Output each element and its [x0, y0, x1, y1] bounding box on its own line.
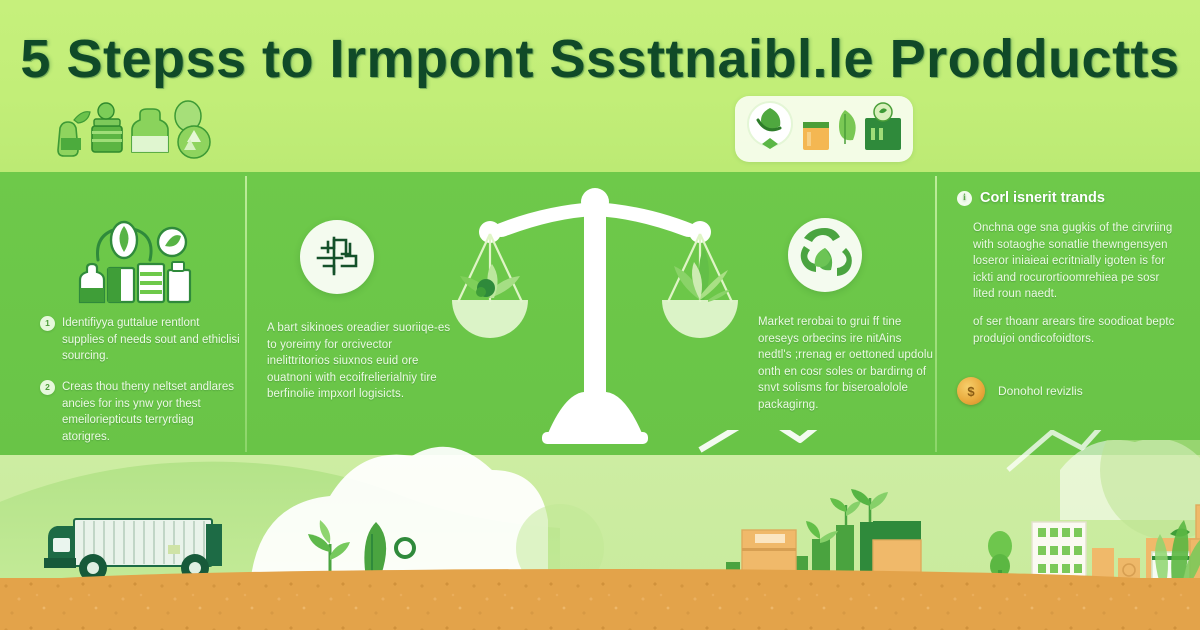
panel-heading: i Corl isnerit trands: [957, 190, 1105, 206]
bullet-item: 1 Identifiyya guttalue rentlont supplies…: [40, 315, 240, 365]
trends-body-2: of ser thoanr arears tire soodioat beptc…: [973, 314, 1178, 347]
gold-coin-icon: $: [957, 377, 985, 405]
pan-plant-left: [460, 264, 520, 298]
supply-chain-network-icon: [300, 220, 374, 294]
bullet-item: 2 Creas thou theny neltset andlares anci…: [40, 379, 240, 445]
landscape-band: [0, 455, 1200, 585]
column-body-text: Market rerobai to grui ff tine oreseys o…: [758, 314, 934, 413]
column-trends: i Corl isnerit trands Onchna oge sna gug…: [935, 172, 1200, 455]
column-body-text: A bart sikinoes oreadier suoriiqe-es to …: [267, 320, 455, 403]
trends-body-1: Onchna oge sna gugkis of the cirvriing w…: [973, 220, 1178, 303]
bullet-number: 2: [40, 380, 55, 395]
info-icon: i: [957, 191, 972, 206]
bullet-text: Creas thou theny neltset andlares ancies…: [62, 379, 240, 445]
soil-texture: [0, 578, 1200, 630]
page-title: 5 Stepss to Irmpont Sssttnaibl.le Proddu…: [0, 28, 1200, 90]
eco-products-shelf-icon: [72, 214, 192, 306]
soil-band: [0, 578, 1200, 630]
eco-certification-card: [735, 96, 913, 162]
recycling-leaf-icon: [788, 218, 862, 292]
column-logistics: A bart sikinoes oreadier suoriiqe-es to …: [245, 172, 450, 455]
balance-scale-with-plants: [450, 180, 740, 455]
column-balance: [450, 172, 740, 455]
financial-results-row: $ Donohol revizlis: [957, 377, 1083, 405]
pan-plant-right: [674, 248, 730, 302]
bullet-number: 1: [40, 316, 55, 331]
infographic-canvas: 5 Stepss to Irmpont Sssttnaibl.le Proddu…: [0, 0, 1200, 630]
bullet-text: Identifiyya guttalue rentlont supplies o…: [62, 315, 240, 365]
column-sourcing: 1 Identifiyya guttalue rentlont supplies…: [0, 172, 245, 455]
financial-results-label: Donohol revizlis: [998, 384, 1083, 398]
eco-product-bottles-icon-cluster: [48, 98, 233, 160]
panel-heading-label: Corl isnerit trands: [980, 190, 1105, 206]
column-packaging: Market rerobai to grui ff tine oreseys o…: [740, 172, 935, 455]
